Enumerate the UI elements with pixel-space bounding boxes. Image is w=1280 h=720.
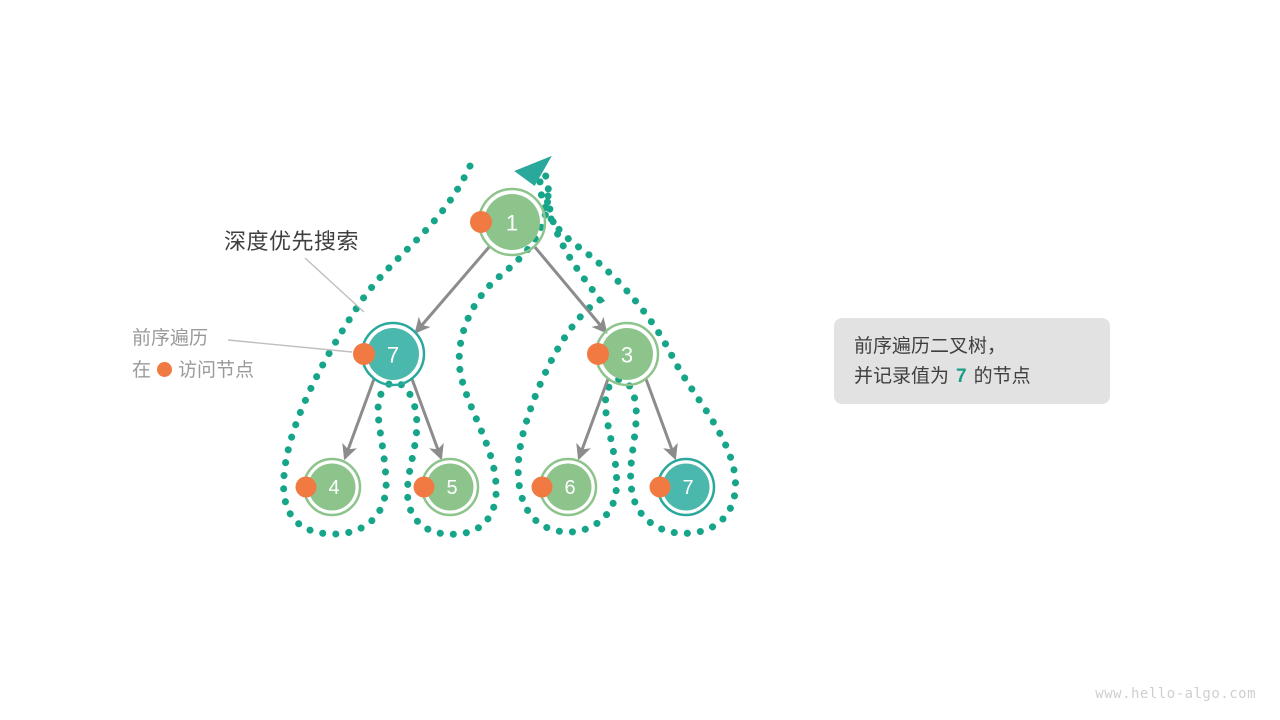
annotation-preorder-suffix: 访问节点 bbox=[178, 360, 254, 381]
dfs-path-arrow-head-icon bbox=[512, 146, 552, 188]
watermark: www.hello-algo.com bbox=[1095, 686, 1256, 702]
node-value: 7 bbox=[387, 343, 399, 368]
tree-node-4[interactable]: 4 bbox=[296, 459, 361, 515]
annotation-preorder-prefix: 在 bbox=[132, 360, 151, 381]
visit-dot-icon bbox=[414, 477, 435, 498]
annotation-leader-lines bbox=[228, 258, 364, 352]
edge-7a-to-4 bbox=[345, 379, 374, 458]
edge-3-to-6 bbox=[579, 379, 608, 458]
tree-node-3[interactable]: 3 bbox=[587, 323, 658, 385]
tree-node-7-right[interactable]: 7 bbox=[650, 459, 715, 515]
caption-box: 前序遍历二叉树， 并记录值为7的节点 bbox=[834, 318, 1110, 404]
tree-node-6[interactable]: 6 bbox=[532, 459, 597, 515]
caption-line-2: 并记录值为7的节点 bbox=[854, 362, 1110, 392]
visit-dot-icon bbox=[650, 477, 671, 498]
visit-dot-icon bbox=[470, 211, 492, 233]
visit-dot-icon bbox=[587, 343, 609, 365]
caption-highlight-value: 7 bbox=[956, 366, 967, 387]
visit-dot-icon bbox=[296, 477, 317, 498]
node-value: 7 bbox=[682, 477, 693, 499]
tree-node-5[interactable]: 5 bbox=[414, 459, 479, 515]
visit-dot-legend-icon bbox=[157, 362, 172, 377]
visit-dot-icon bbox=[532, 477, 553, 498]
node-value: 6 bbox=[564, 477, 575, 499]
tree-node-1[interactable]: 1 bbox=[470, 189, 545, 255]
caption-line-2-prefix: 并记录值为 bbox=[854, 366, 949, 387]
edge-3-to-7b bbox=[646, 379, 675, 458]
node-value: 1 bbox=[506, 211, 518, 236]
caption-line-2-suffix: 的节点 bbox=[974, 366, 1031, 387]
edge-1-to-7a bbox=[416, 246, 490, 332]
diagram-canvas: 1 7 3 4 bbox=[0, 0, 1280, 720]
node-value: 5 bbox=[446, 477, 457, 499]
leader-line-dfs-title bbox=[305, 258, 364, 312]
annotation-preorder-line2: 在访问节点 bbox=[132, 356, 254, 386]
node-value: 3 bbox=[621, 343, 633, 368]
visit-dot-icon bbox=[353, 343, 375, 365]
node-value: 4 bbox=[328, 477, 339, 499]
annotation-title-dfs: 深度优先搜索 bbox=[224, 224, 359, 256]
caption-line-1: 前序遍历二叉树， bbox=[854, 332, 1110, 362]
annotation-preorder-line1: 前序遍历 bbox=[132, 324, 208, 354]
tree-node-7-left[interactable]: 7 bbox=[353, 323, 424, 385]
